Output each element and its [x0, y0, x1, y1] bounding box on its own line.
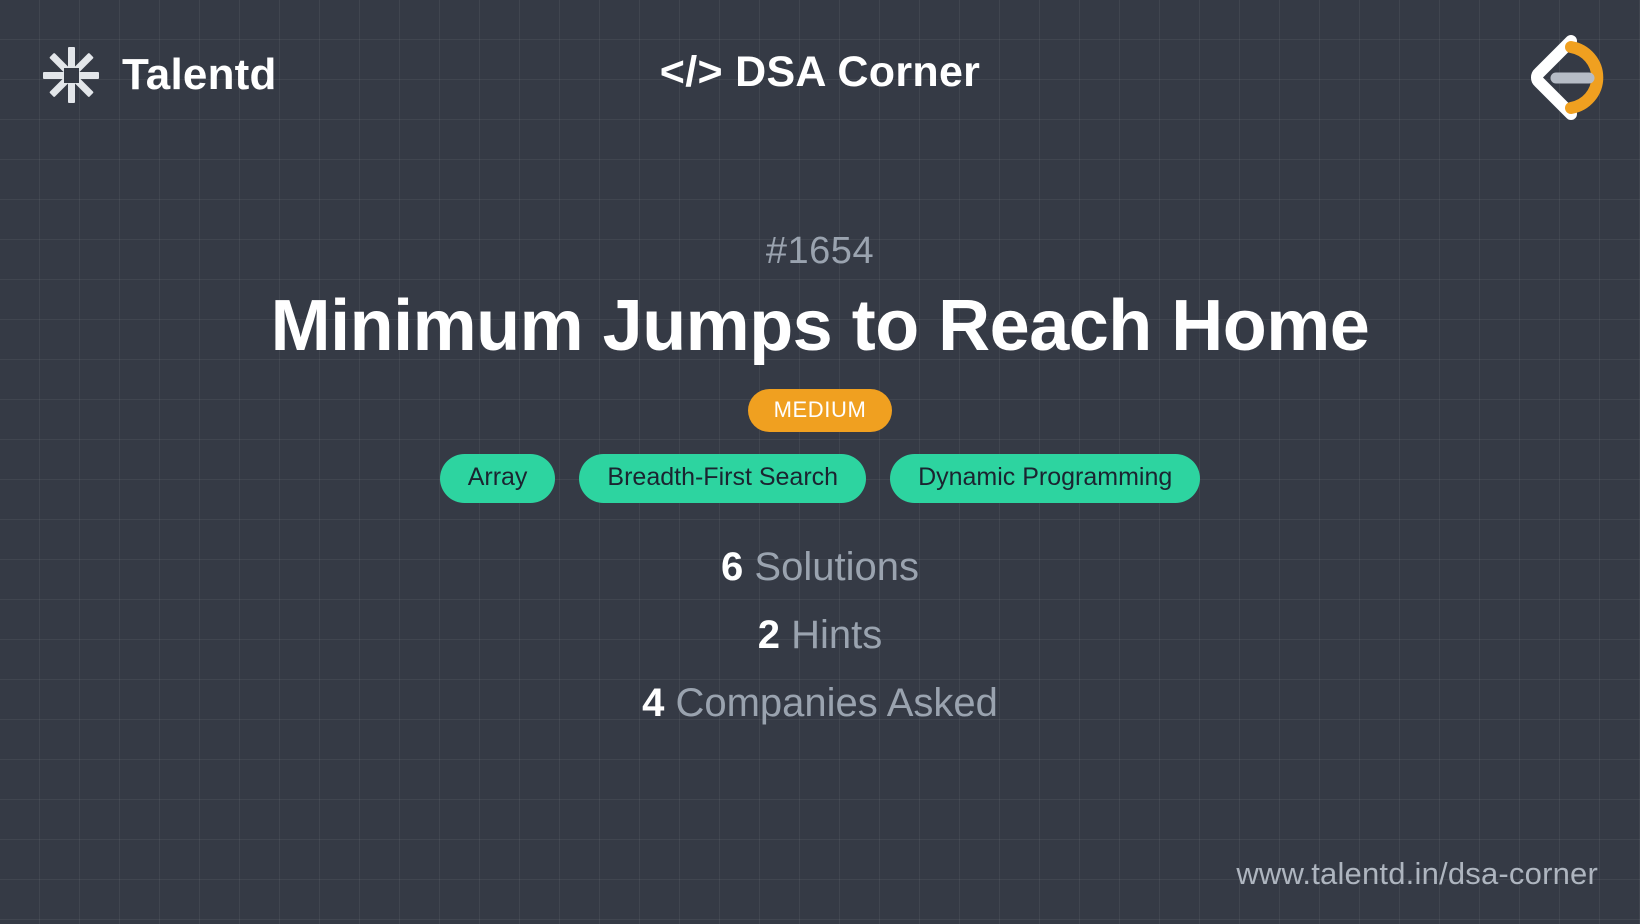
page-header: Talentd </> DSA Corner	[0, 0, 1640, 155]
leetcode-logo-icon	[1509, 27, 1605, 127]
tag-pill[interactable]: Dynamic Programming	[890, 454, 1200, 503]
stat-value: 4	[642, 681, 664, 725]
problem-number: #1654	[766, 230, 874, 273]
stat-value: 6	[721, 545, 743, 589]
page-title: </> DSA Corner	[0, 48, 1640, 97]
stat-label: Solutions	[743, 545, 919, 589]
difficulty-badge: MEDIUM	[748, 389, 893, 432]
stat-label: Hints	[780, 613, 882, 657]
tag-pill[interactable]: Array	[440, 454, 556, 503]
problem-title: Minimum Jumps to Reach Home	[271, 289, 1370, 365]
stats-list: 6 Solutions 2 Hints 4 Companies Asked	[642, 545, 998, 726]
tag-pill[interactable]: Breadth-First Search	[579, 454, 866, 503]
problem-card: #1654 Minimum Jumps to Reach Home MEDIUM…	[0, 155, 1640, 814]
tag-list: Array Breadth-First Search Dynamic Progr…	[440, 454, 1201, 503]
stat-solutions: 6 Solutions	[721, 545, 919, 590]
stat-value: 2	[758, 613, 780, 657]
stat-label: Companies Asked	[664, 681, 998, 725]
stat-hints: 2 Hints	[758, 613, 883, 658]
stat-companies: 4 Companies Asked	[642, 681, 998, 726]
footer-url[interactable]: www.talentd.in/dsa-corner	[1236, 856, 1598, 892]
